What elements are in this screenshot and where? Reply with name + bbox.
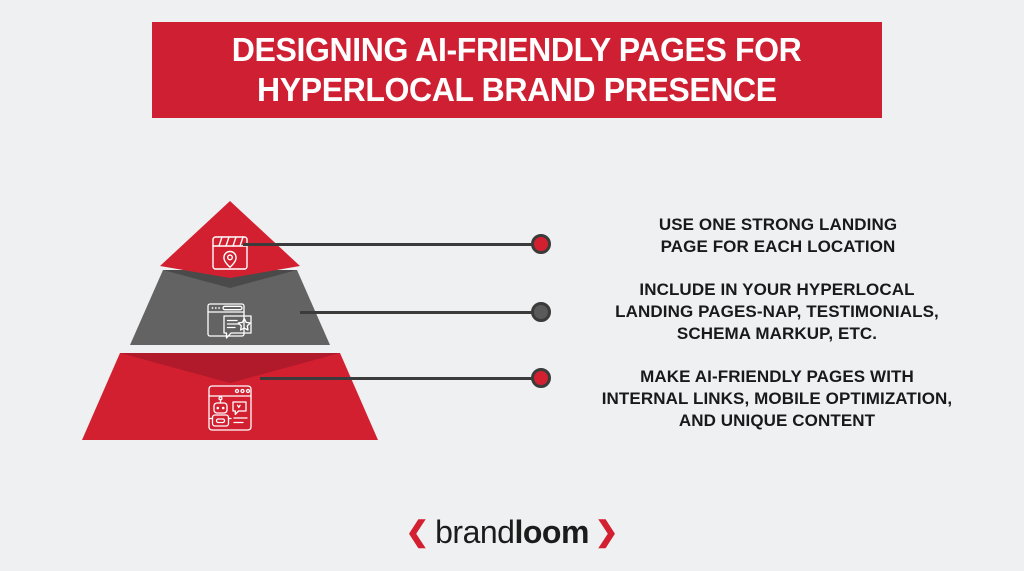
connector-stem-1 xyxy=(243,243,533,246)
callout-1-line-1: USE ONE STRONG LANDING xyxy=(568,214,988,236)
callout-2-line-1: INCLUDE IN YOUR HYPERLOCAL xyxy=(558,279,996,301)
callout-text-3: MAKE AI-FRIENDLY PAGES WITH INTERNAL LIN… xyxy=(558,366,996,432)
page-title-line-2: HYPERLOCAL BRAND PRESENCE xyxy=(257,70,777,110)
chevron-right-icon: ❯ xyxy=(595,518,618,546)
callout-text-1: USE ONE STRONG LANDING PAGE FOR EACH LOC… xyxy=(568,214,988,258)
browser-review-star-icon xyxy=(182,290,278,352)
connector-line-3 xyxy=(260,367,551,389)
title-banner: DESIGNING AI-FRIENDLY PAGES FOR HYPERLOC… xyxy=(152,22,882,118)
logo-word-loom: loom xyxy=(514,514,588,550)
callout-1-line-2: PAGE FOR EACH LOCATION xyxy=(568,236,988,258)
callout-2-line-2: LANDING PAGES-NAP, TESTIMONIALS, xyxy=(558,301,996,323)
logo-word-brand: brand xyxy=(435,514,514,550)
callout-text-2: INCLUDE IN YOUR HYPERLOCAL LANDING PAGES… xyxy=(558,279,996,345)
page-title-line-1: DESIGNING AI-FRIENDLY PAGES FOR xyxy=(232,30,802,70)
callout-3-line-3: AND UNIQUE CONTENT xyxy=(558,410,996,432)
brandloom-logo[interactable]: ❮ brandloom ❯ xyxy=(0,516,1024,548)
infographic-canvas: DESIGNING AI-FRIENDLY PAGES FOR HYPERLOC… xyxy=(0,0,1024,571)
connector-stem-3 xyxy=(260,377,533,380)
connector-dot-3 xyxy=(531,368,551,388)
callout-3-line-2: INTERNAL LINKS, MOBILE OPTIMIZATION, xyxy=(558,388,996,410)
connector-dot-2 xyxy=(531,302,551,322)
connector-line-1 xyxy=(243,233,551,255)
connector-dot-1 xyxy=(531,234,551,254)
callout-2-line-3: SCHEMA MARKUP, ETC. xyxy=(558,323,996,345)
connector-stem-2 xyxy=(300,311,533,314)
callout-3-line-1: MAKE AI-FRIENDLY PAGES WITH xyxy=(558,366,996,388)
chevron-left-icon: ❮ xyxy=(406,518,429,546)
connector-line-2 xyxy=(300,301,551,323)
logo-wordmark: brandloom xyxy=(435,516,589,548)
